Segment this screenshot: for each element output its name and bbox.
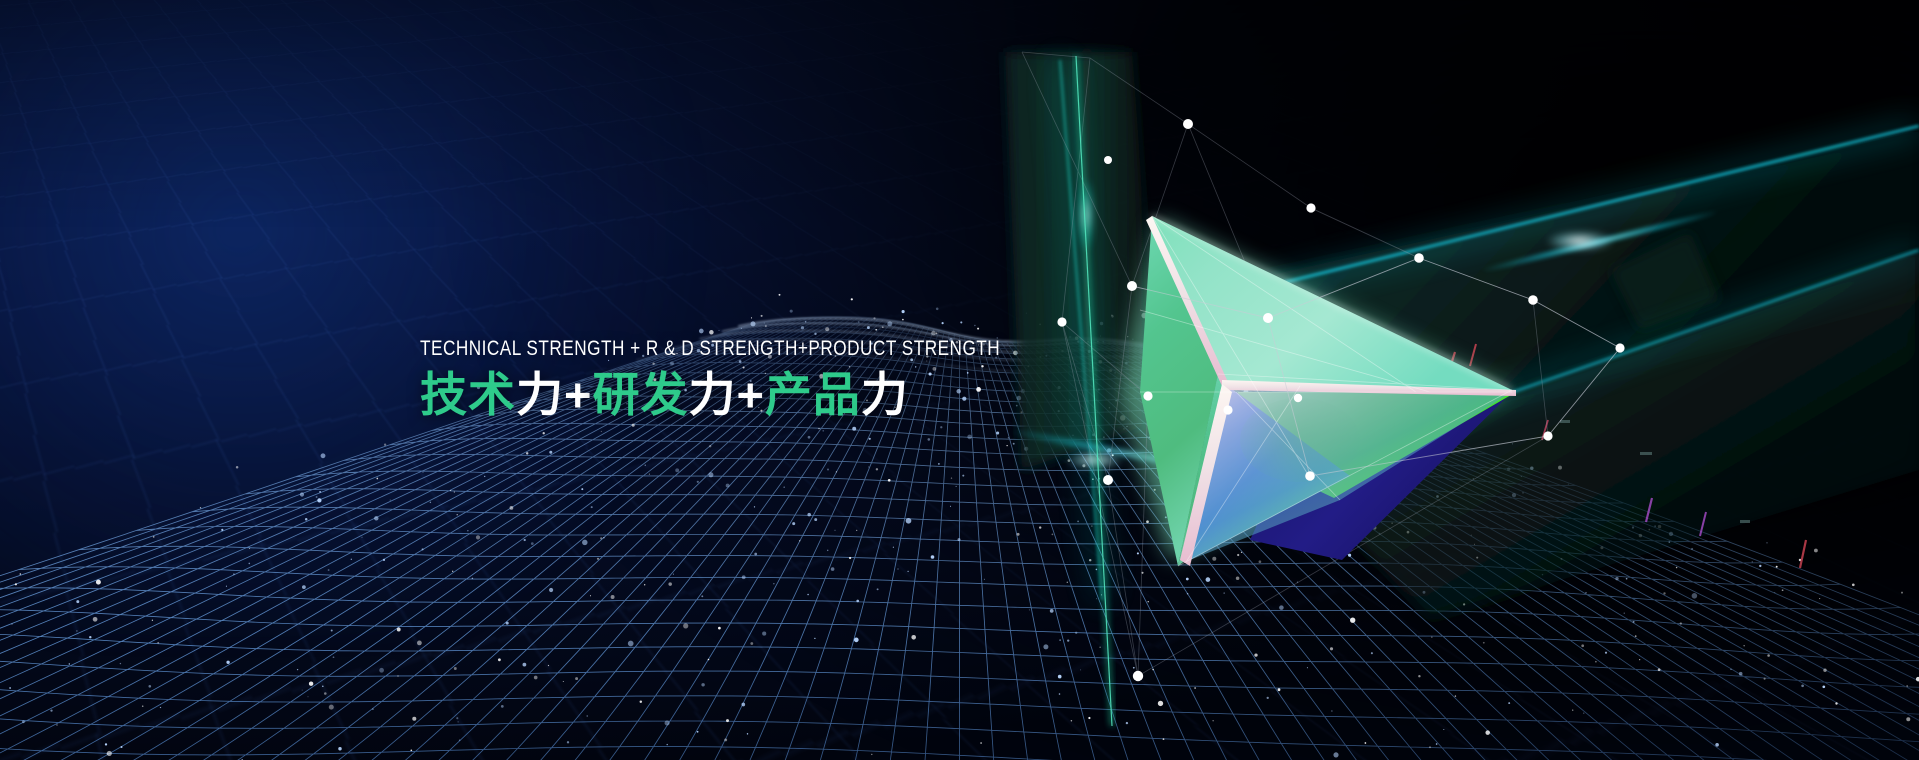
hero-banner: TECHNICAL STRENGTH + R & D STRENGTH+PROD… [0,0,1919,760]
headline-chinese: 技术力+研发力+产品力 [420,366,1145,424]
headline-chinese-segment-7: 力 [861,368,909,421]
headline-block: TECHNICAL STRENGTH + R & D STRENGTH+PROD… [420,336,1145,424]
headline-chinese-segment-0: 技术 [420,368,516,421]
headline-chinese-segment-6: 产品 [765,368,861,421]
headline-chinese-segment-5: + [736,368,764,421]
headline-chinese-segment-1: 力 [516,368,564,421]
headline-chinese-segment-3: 研发 [592,368,688,421]
headline-english: TECHNICAL STRENGTH + R & D STRENGTH+PROD… [420,336,1000,360]
headline-chinese-segment-4: 力 [688,368,736,421]
headline-chinese-segment-2: + [564,368,592,421]
